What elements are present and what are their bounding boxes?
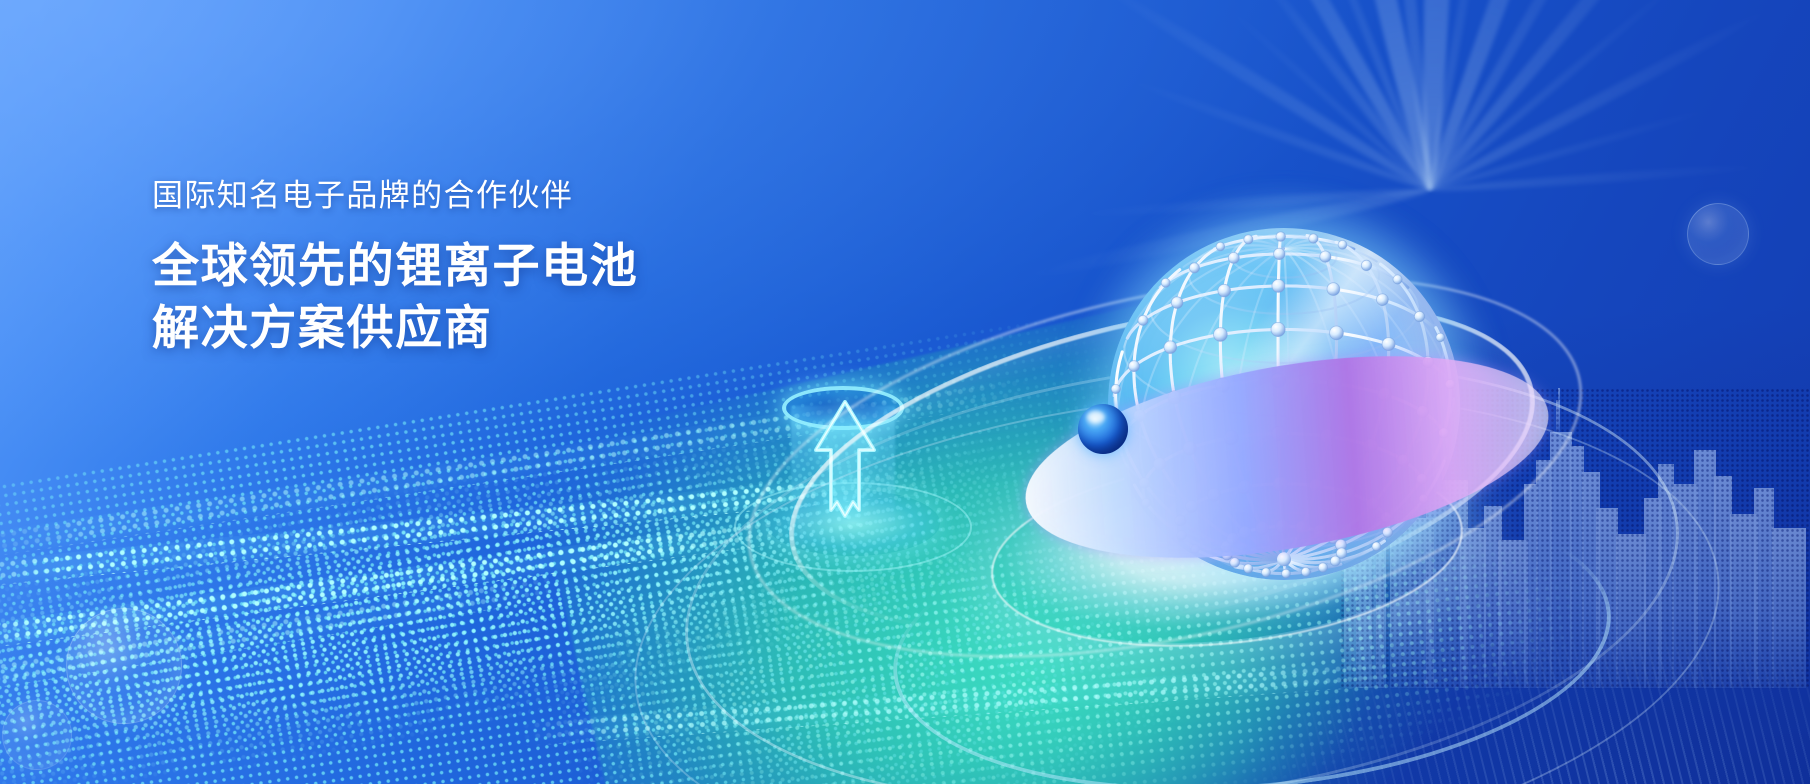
bubble-bottom-left-2 xyxy=(2,700,72,770)
hero-headline-line-2: 解决方案供应商 xyxy=(152,297,912,359)
hero-copy-block: 国际知名电子品牌的合作伙伴 全球领先的锂离子电池 解决方案供应商 xyxy=(152,176,912,359)
hero-headline-line-1: 全球领先的锂离子电池 xyxy=(152,235,912,297)
up-arrow-icon xyxy=(812,398,878,532)
hero-headline: 全球领先的锂离子电池 解决方案供应商 xyxy=(152,235,912,359)
hero-banner: 国际知名电子品牌的合作伙伴 全球领先的锂离子电池 解决方案供应商 xyxy=(0,0,1810,784)
bubble-top-right xyxy=(1687,203,1749,265)
globe-graphic-group xyxy=(1012,168,1632,728)
blue-node-sphere xyxy=(1078,404,1128,454)
bubble-bottom-left xyxy=(66,608,182,724)
hero-eyebrow: 国际知名电子品牌的合作伙伴 xyxy=(152,176,912,217)
light-beam-group xyxy=(778,386,928,546)
wireframe-globe-icon xyxy=(1098,218,1470,590)
